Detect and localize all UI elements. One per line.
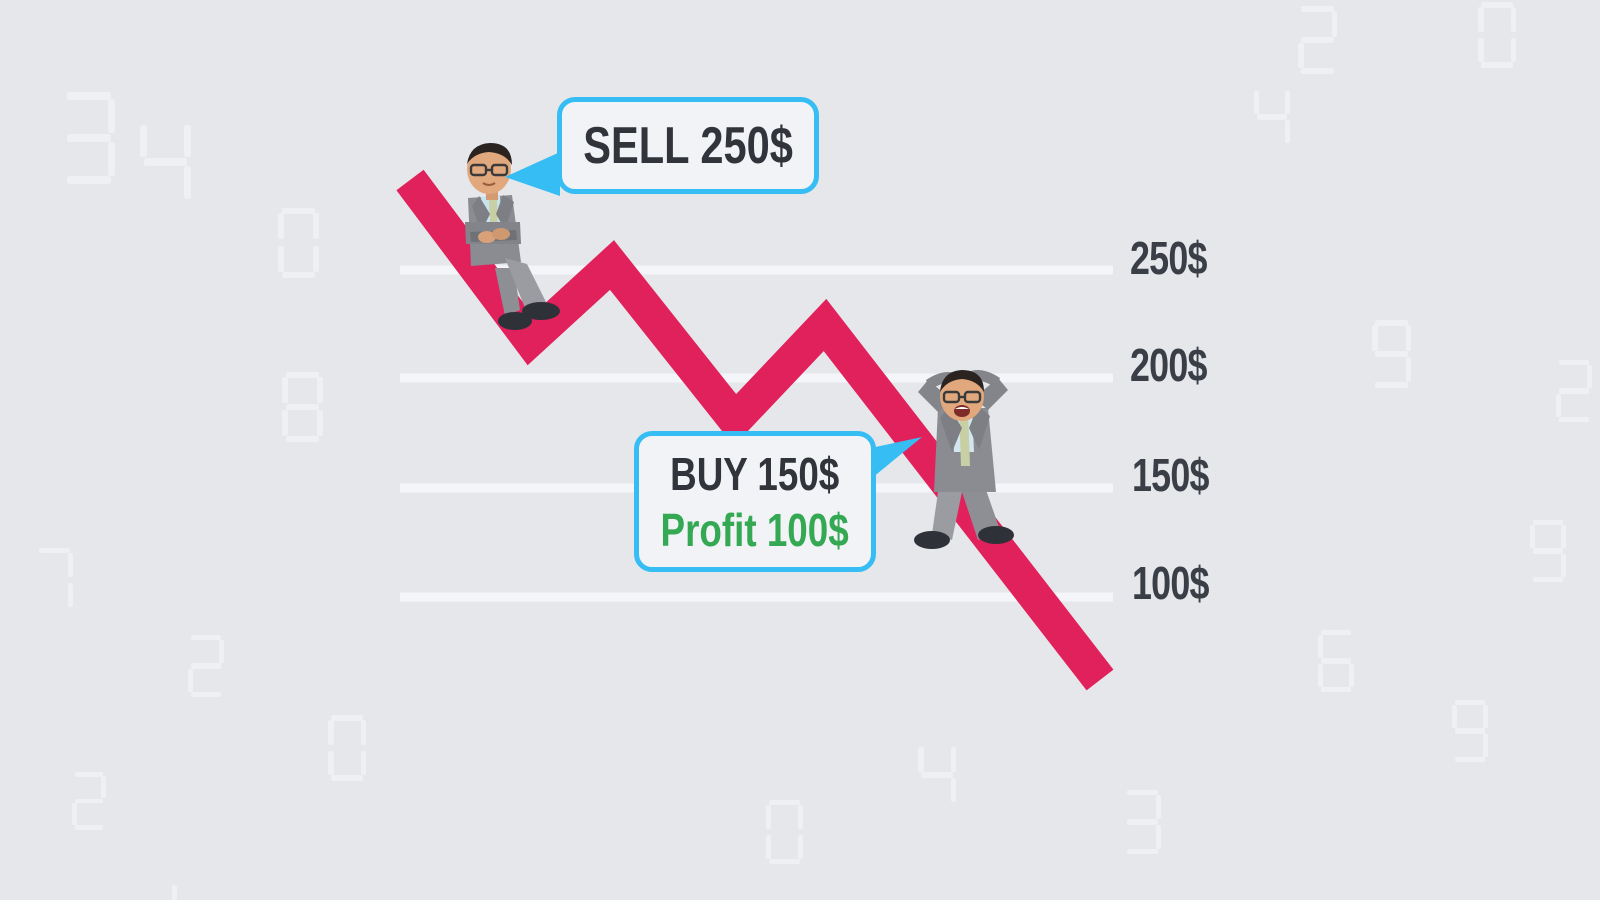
buy-callout-profit-text: Profit 100$ bbox=[661, 507, 849, 553]
y-axis-label-100: 100$ bbox=[1132, 560, 1209, 606]
buy-callout-price-text: BUY 150$ bbox=[670, 451, 839, 497]
y-axis-label-150: 150$ bbox=[1132, 452, 1209, 498]
buy-callout[interactable]: BUY 150$ Profit 100$ bbox=[634, 431, 876, 572]
y-axis-label-200: 200$ bbox=[1130, 342, 1207, 388]
sell-callout-text: SELL 250$ bbox=[583, 120, 793, 172]
y-axis-label-250: 250$ bbox=[1130, 235, 1207, 281]
chart-canvas: 250$200$150$100$ SELL 250$ BUY 150$ Prof… bbox=[0, 0, 1600, 900]
sell-callout[interactable]: SELL 250$ bbox=[557, 97, 819, 194]
